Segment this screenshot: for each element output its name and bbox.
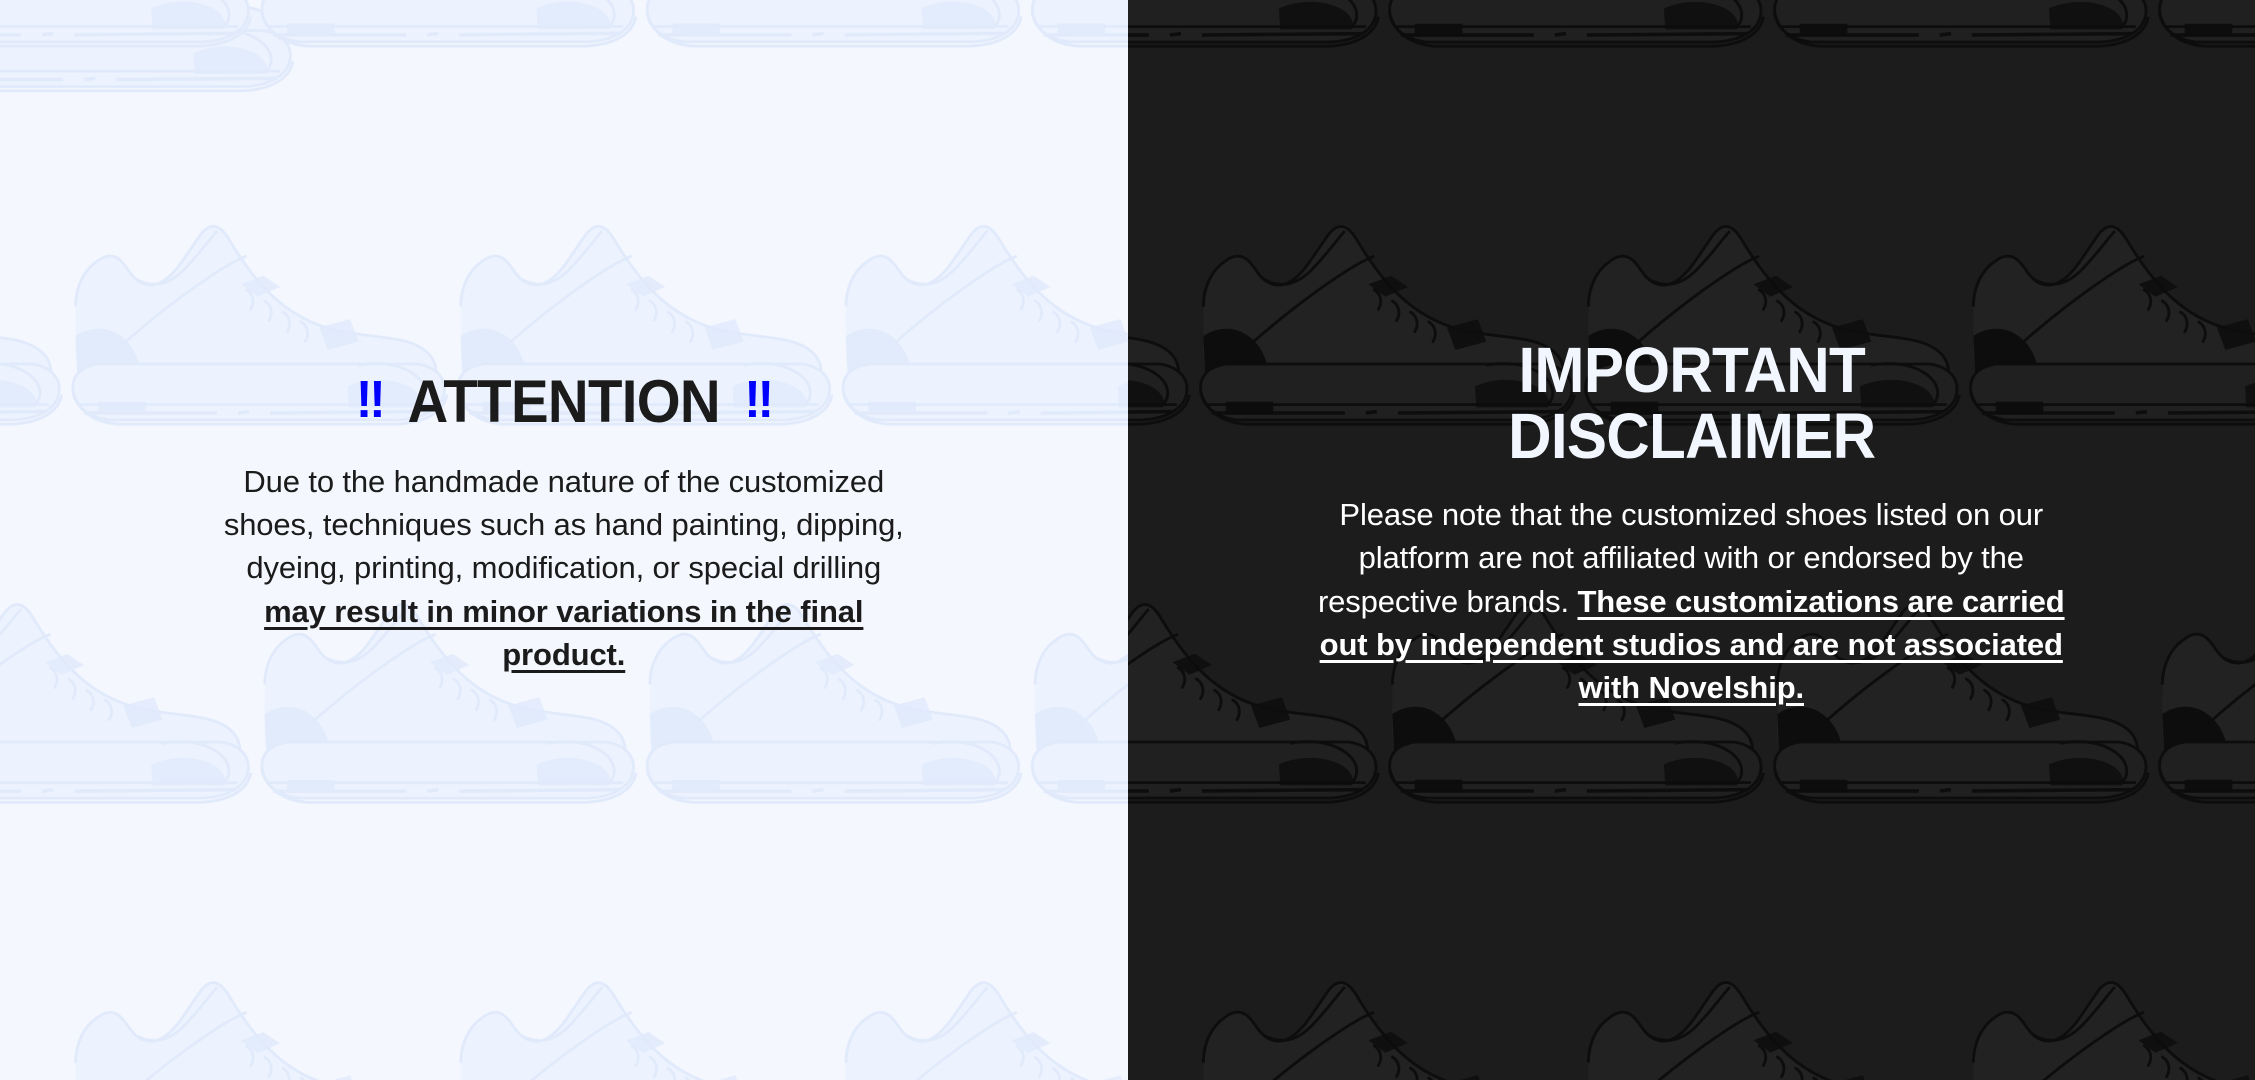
disclaimer-banner: ‼ ATTENTION ‼ Due to the handmade nature… — [0, 0, 2255, 1080]
double-exclamation-left-icon: ‼ — [356, 374, 383, 426]
attention-body: Due to the handmade nature of the custom… — [214, 460, 914, 677]
attention-heading-text: ATTENTION — [408, 372, 720, 432]
attention-panel: ‼ ATTENTION ‼ Due to the handmade nature… — [0, 0, 1128, 1080]
double-exclamation-right-icon: ‼ — [744, 374, 771, 426]
attention-heading: ‼ ATTENTION ‼ — [71, 372, 1056, 432]
attention-content: ‼ ATTENTION ‼ Due to the handmade nature… — [0, 372, 1128, 677]
disclaimer-content: IMPORTANT DISCLAIMER Please note that th… — [1128, 338, 2255, 709]
disclaimer-panel: IMPORTANT DISCLAIMER Please note that th… — [1128, 0, 2255, 1080]
disclaimer-heading-line-1: IMPORTANT — [1199, 338, 2184, 403]
disclaimer-body: Please note that the customized shoes li… — [1311, 493, 2071, 710]
disclaimer-heading: IMPORTANT DISCLAIMER — [1199, 338, 2184, 469]
attention-body-normal: Due to the handmade nature of the custom… — [224, 464, 904, 586]
disclaimer-heading-line-2: DISCLAIMER — [1199, 404, 2184, 469]
attention-body-emphasis: may result in minor variations in the fi… — [264, 594, 863, 672]
